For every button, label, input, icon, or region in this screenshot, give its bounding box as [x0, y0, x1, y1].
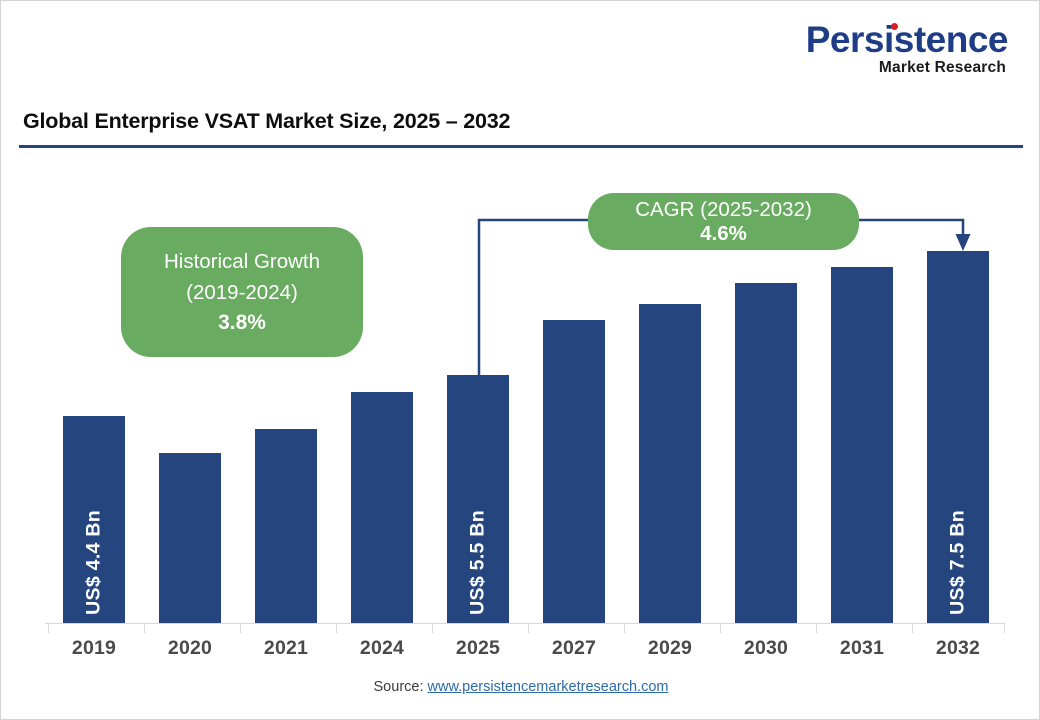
x-axis-tick — [912, 624, 913, 633]
historical-growth-value: 3.8% — [218, 308, 266, 338]
x-axis-label-2020: 2020 — [159, 637, 221, 660]
x-axis-label-2032: 2032 — [927, 637, 989, 660]
x-axis-tick — [240, 624, 241, 633]
x-axis-label-2031: 2031 — [831, 637, 893, 660]
x-axis-label-2027: 2027 — [543, 637, 605, 660]
x-axis-tick — [624, 624, 625, 633]
cagr-callout: CAGR (2025-2032) 4.6% — [588, 193, 859, 250]
source-prefix: Source: — [374, 679, 428, 695]
bar-2021[interactable] — [255, 429, 317, 623]
x-axis-label-2025: 2025 — [447, 637, 509, 660]
bar-2030[interactable] — [735, 283, 797, 623]
bar-2025[interactable]: US$ 5.5 Bn — [447, 375, 509, 623]
x-axis-line — [45, 623, 1005, 624]
bar-2031[interactable] — [831, 267, 893, 623]
bar-2019[interactable]: US$ 4.4 Bn — [63, 416, 125, 623]
bar-value-label-2025: US$ 5.5 Bn — [467, 510, 490, 615]
x-axis-label-2019: 2019 — [63, 637, 125, 660]
x-axis-tick — [336, 624, 337, 633]
x-axis-tick — [144, 624, 145, 633]
bar-chart-plot-area: US$ 4.4 Bn US$ 5.5 Bn US$ 7.5 Bn 2019 20… — [1, 1, 1040, 720]
historical-growth-callout: Historical Growth (2019-2024) 3.8% — [121, 227, 363, 357]
x-axis-label-2029: 2029 — [639, 637, 701, 660]
chart-canvas: Persistence Market Research Global Enter… — [0, 0, 1040, 720]
bar-2020[interactable] — [159, 453, 221, 623]
source-note: Source: www.persistencemarketresearch.co… — [1, 679, 1040, 695]
bar-2032[interactable]: US$ 7.5 Bn — [927, 251, 989, 623]
bar-value-label-2019: US$ 4.4 Bn — [83, 510, 106, 615]
x-axis-tick — [48, 624, 49, 633]
bar-2029[interactable] — [639, 304, 701, 623]
x-axis-tick — [432, 624, 433, 633]
bar-value-label-2032: US$ 7.5 Bn — [947, 510, 970, 615]
x-axis-label-2024: 2024 — [351, 637, 413, 660]
historical-growth-line2: (2019-2024) — [186, 277, 298, 308]
x-axis-tick — [528, 624, 529, 633]
x-axis-tick — [720, 624, 721, 633]
historical-growth-line1: Historical Growth — [164, 246, 320, 277]
cagr-value: 4.6% — [700, 222, 747, 246]
source-link[interactable]: www.persistencemarketresearch.com — [428, 679, 669, 695]
x-axis-label-2021: 2021 — [255, 637, 317, 660]
x-axis-label-2030: 2030 — [735, 637, 797, 660]
x-axis-tick — [1004, 624, 1005, 633]
bar-2024[interactable] — [351, 392, 413, 623]
cagr-line1: CAGR (2025-2032) — [635, 198, 812, 222]
bar-2027[interactable] — [543, 320, 605, 623]
x-axis-tick — [816, 624, 817, 633]
